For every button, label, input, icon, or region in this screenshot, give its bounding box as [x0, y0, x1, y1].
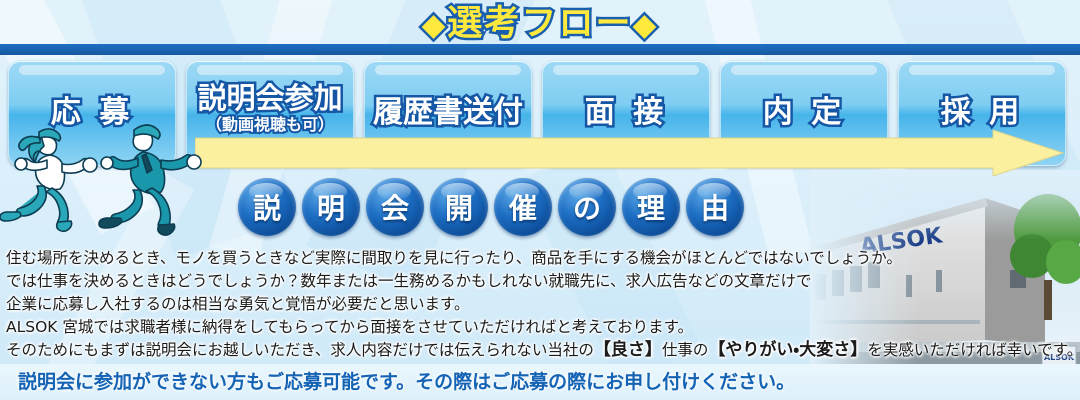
flow-step-5-label: 内 定: [721, 87, 887, 131]
title-band: ◆選考フロー◆: [0, 0, 1080, 56]
heading-char-7: 理: [622, 178, 680, 236]
heading-char-6-text: の: [558, 187, 616, 227]
diamond-left-icon: ◆: [422, 7, 448, 43]
body-line-3: 企業に応募し入社するのは相当な勇気と覚悟が必要だと思います。: [6, 294, 1074, 314]
heading-char-8-text: 由: [686, 187, 744, 227]
page-title: ◆選考フロー◆: [0, 2, 1080, 48]
diamond-right-icon: ◆: [633, 7, 659, 43]
heading-char-3: 会: [366, 178, 424, 236]
bottom-banner-text: 説明会に参加ができない方もご応募可能です。その際はご応募の際にお申し付けください…: [18, 364, 795, 400]
heading-char-5: 催: [494, 178, 552, 236]
heading-char-3-text: 会: [366, 187, 424, 227]
heading-char-8: 由: [686, 178, 744, 236]
heading-char-1-text: 説: [238, 187, 296, 227]
page-title-text: 選考フロー: [447, 4, 632, 44]
body-line-5-part2: 仕事の: [662, 341, 709, 359]
flow-step-3-label: 履歴書送付: [365, 87, 531, 131]
body-line-5-part3: を実感いただければ幸いです。: [867, 341, 1080, 359]
progress-arrow: [195, 130, 1065, 176]
body-line-5: そのためにもまずは説明会にお越しいただき、求人内容だけでは伝えられない当社の【良…: [6, 340, 1074, 360]
body-line-1: 住む場所を決めるとき、モノを買うときなど実際に間取りを見に行ったり、商品を手にす…: [6, 248, 1074, 268]
bottom-banner: 説明会に参加ができない方もご応募可能です。その際はご応募の際にお申し付けください…: [0, 364, 1080, 400]
heading-char-5-text: 催: [494, 187, 552, 227]
body-text: 住む場所を決めるとき、モノを買うときなど実際に間取りを見に行ったり、商品を手にす…: [6, 248, 1074, 363]
heading-char-4: 開: [430, 178, 488, 236]
section-heading: 説 明 会 開 催 の 理 由: [238, 178, 744, 242]
heading-char-1: 説: [238, 178, 296, 236]
flow-step-4-label: 面 接: [543, 87, 709, 131]
heading-char-2: 明: [302, 178, 360, 236]
flow-step-6-label: 採 用: [899, 87, 1065, 131]
body-emphasis-2: 【やりがい・大変さ】: [708, 340, 867, 360]
body-line-5-part1: そのためにもまずは説明会にお越しいただき、求人内容だけでは伝えられない当社の: [6, 341, 594, 359]
heading-char-6: の: [558, 178, 616, 236]
heading-char-7-text: 理: [622, 187, 680, 227]
body-line-4: ALSOK 宮城では求職者様に納得をしてもらってから面接をさせていただければと考…: [6, 317, 1074, 337]
heading-char-4-text: 開: [430, 187, 488, 227]
body-line-2: では仕事を決めるときはどうでしょうか？数年または一生務めるかもしれない就職先に、…: [6, 271, 1074, 291]
running-people-illustration: [0, 108, 215, 236]
heading-char-2-text: 明: [302, 187, 360, 227]
infographic-root: ◆選考フロー◆ 応 募 説明会参加 （動画視聴も可） 履歴書送付 面 接 内 定…: [0, 0, 1080, 400]
body-emphasis-1: 【良さ】: [594, 340, 662, 360]
